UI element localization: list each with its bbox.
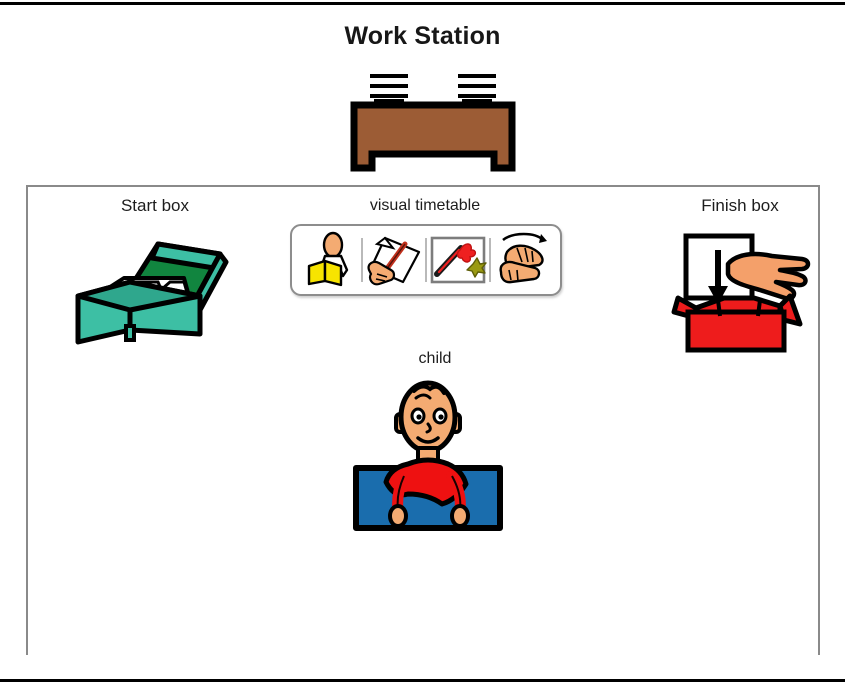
washing-hands-icon[interactable] xyxy=(491,230,553,290)
visual-timetable-label: visual timetable xyxy=(300,197,550,215)
page-title: Work Station xyxy=(0,22,845,51)
finish-box-label: Finish box xyxy=(640,196,840,216)
reading-book-icon[interactable] xyxy=(299,230,361,290)
desk-icon xyxy=(348,68,518,173)
bottom-rule xyxy=(0,679,845,682)
writing-hand-pencil-icon[interactable] xyxy=(363,230,425,290)
start-box-icon xyxy=(72,238,237,350)
painting-brush-flower-icon[interactable] xyxy=(427,230,489,290)
finish-box-icon xyxy=(668,232,818,352)
child-label: child xyxy=(360,350,510,368)
child-at-desk-icon xyxy=(352,372,504,537)
start-box-label: Start box xyxy=(60,196,250,216)
visual-timetable-strip[interactable] xyxy=(290,224,562,296)
top-rule xyxy=(0,2,845,5)
